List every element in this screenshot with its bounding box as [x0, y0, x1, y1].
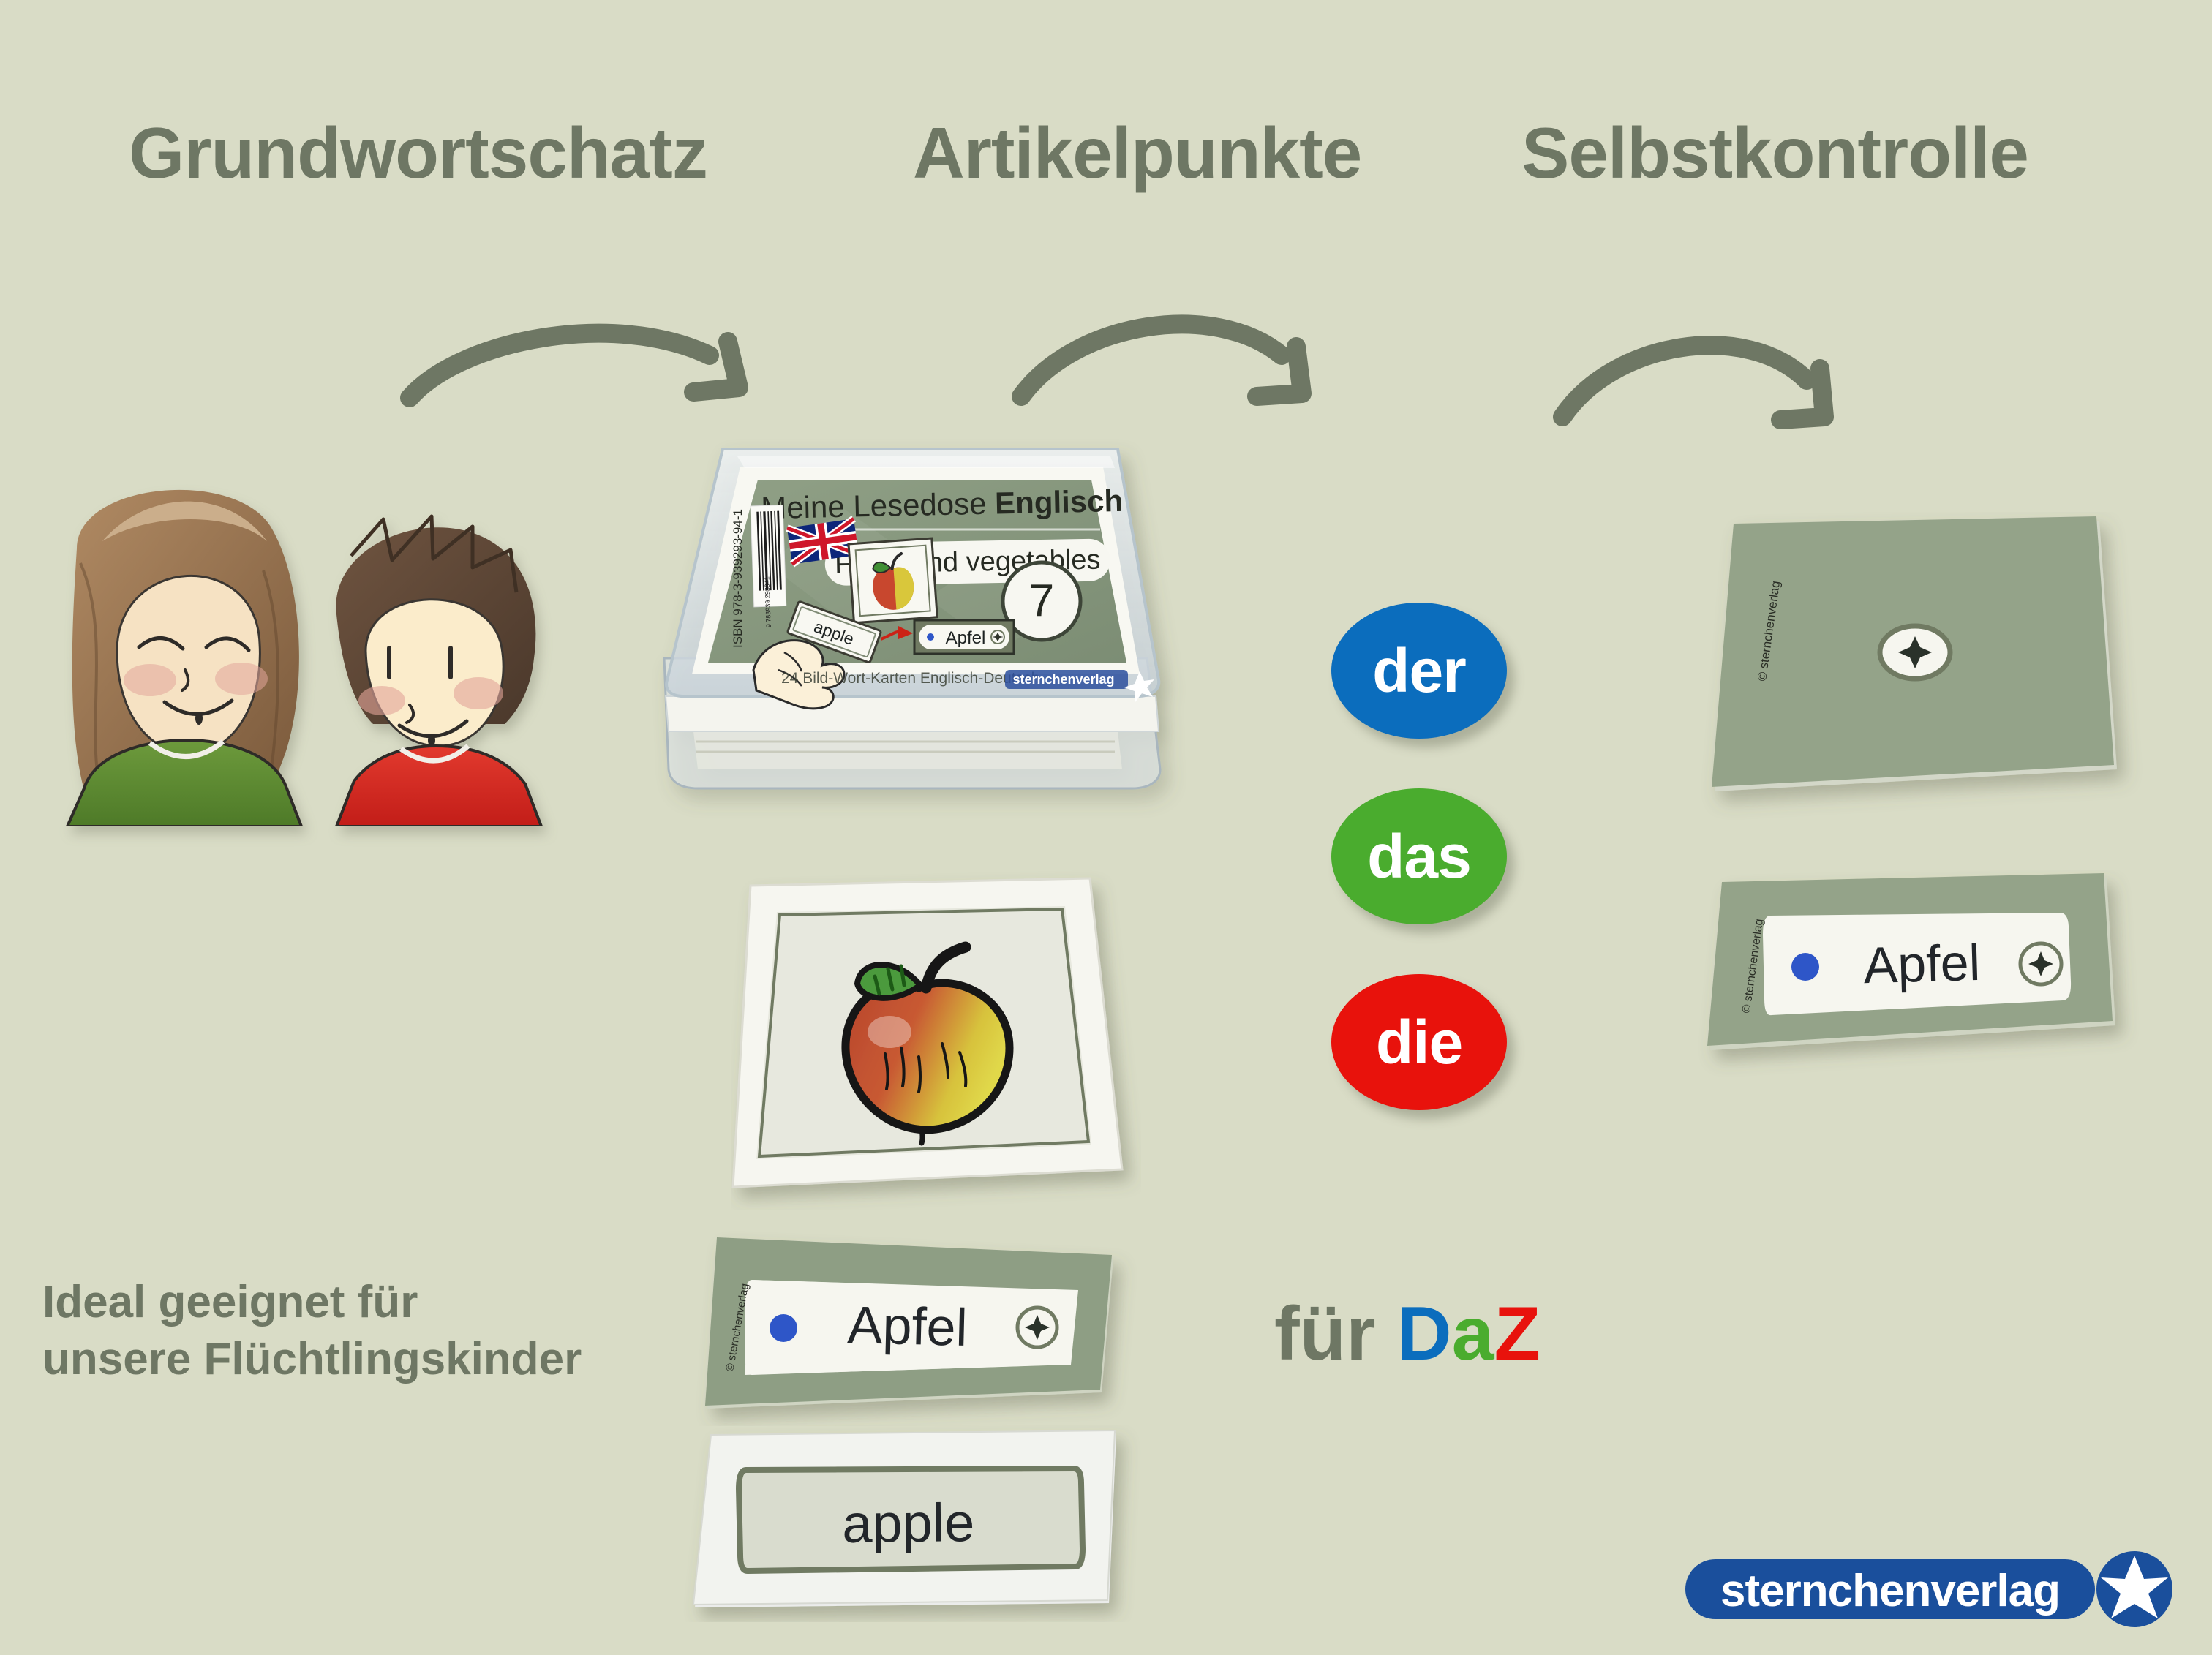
- daz-d: D: [1397, 1292, 1452, 1376]
- daz-a: a: [1452, 1292, 1494, 1376]
- box-number: 7: [1029, 576, 1054, 626]
- box-isbn: ISBN 978-3-939293-94-1: [731, 509, 745, 648]
- star-check-icon-back: [1880, 626, 1950, 679]
- star-check-icon-front: [2020, 943, 2061, 984]
- article-dot-blue: [770, 1314, 797, 1342]
- article-dots-group: der das die: [1331, 600, 1551, 1214]
- box-footer-logo-text: sternchenverlag: [1012, 672, 1114, 687]
- curved-arrow-2-icon: [1009, 293, 1419, 424]
- box-title-regular: Meine Lesedose: [761, 486, 996, 525]
- selbstkontrolle-front-card: Apfel © sternchenverlag: [1697, 870, 2151, 1090]
- daz-z: Z: [1494, 1292, 1541, 1376]
- star-check-icon: [1017, 1308, 1057, 1347]
- lesedose-product-box: Meine Lesedose Englisch Fruits and veget…: [635, 439, 1191, 819]
- word-card-apple: apple: [680, 1425, 1141, 1622]
- heading-artikelpunkte: Artikelpunkte: [913, 117, 1361, 189]
- fuer-daz-label: für DaZ: [1274, 1296, 1540, 1372]
- box-footer-text: 24 Bild-Wort-Karten Englisch-Deutsch: [781, 670, 1039, 687]
- selbstkontrolle-back-card: © sternchenverlag: [1698, 512, 2152, 826]
- sternchenverlag-logo[interactable]: sternchenverlag: [1682, 1549, 2180, 1629]
- poster-canvas: Grundwortschatz Artikelpunkte Selbstkont…: [0, 0, 2212, 1655]
- refugee-note: Ideal geeignet für unsere Flüchtlingskin…: [42, 1274, 582, 1387]
- apple-picture-card: [731, 867, 1141, 1210]
- curved-arrow-1-icon: [395, 307, 805, 431]
- curved-arrow-3-icon: [1551, 314, 1946, 446]
- star-icon: [2096, 1551, 2172, 1627]
- article-dot-die[interactable]: die: [1331, 974, 1507, 1110]
- logo-text: sternchenverlag: [1720, 1566, 2060, 1616]
- article-dot-das[interactable]: das: [1331, 788, 1507, 924]
- refugee-note-line2: unsere Flüchtlingskinder: [42, 1331, 582, 1388]
- heading-selbstkontrolle: Selbstkontrolle: [1521, 117, 2028, 189]
- selbstkontrolle-front-word: Apfel: [1862, 934, 1981, 994]
- refugee-note-line1: Ideal geeignet für: [42, 1274, 582, 1331]
- box-title-bold: Englisch: [995, 483, 1124, 521]
- box-mini-card-apfel: Apfel: [946, 628, 986, 648]
- daz-fuer: für: [1274, 1292, 1376, 1376]
- word-card-apple-text: apple: [842, 1492, 975, 1554]
- word-card-apfel: Apfel © sternchenverlag: [688, 1229, 1148, 1426]
- heading-grundwortschatz: Grundwortschatz: [129, 117, 707, 189]
- article-dot-blue-sk: [1791, 953, 1819, 981]
- children-illustration: [15, 461, 600, 826]
- article-dot-der[interactable]: der: [1331, 603, 1507, 739]
- word-card-apfel-text: Apfel: [847, 1296, 968, 1357]
